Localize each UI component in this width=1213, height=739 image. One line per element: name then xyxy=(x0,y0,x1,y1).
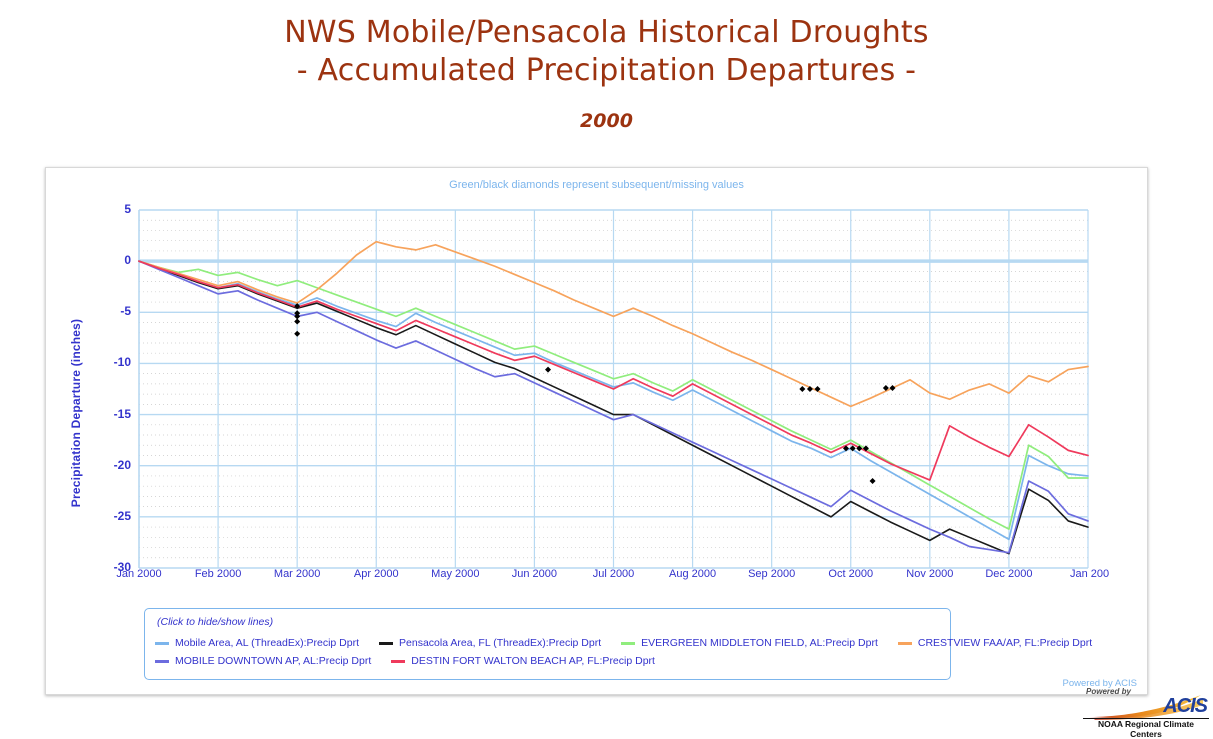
y-tick-label-1: 0 xyxy=(85,253,131,267)
missing-value-diamond-3 xyxy=(294,318,300,324)
y-tick-label-3: -10 xyxy=(85,355,131,369)
x-tick-label-3: Apr 2000 xyxy=(341,568,411,580)
legend-label-1: Pensacola Area, FL (ThreadEx):Precip Dpr… xyxy=(399,637,601,649)
legend-label-0: Mobile Area, AL (ThreadEx):Precip Dprt xyxy=(175,637,359,649)
legend-label-2: EVERGREEN MIDDLETON FIELD, AL:Precip Dpr… xyxy=(641,637,878,649)
x-tick-label-5: Jun 2000 xyxy=(499,568,569,580)
legend-label-4: MOBILE DOWNTOWN AP, AL:Precip Dprt xyxy=(175,655,371,667)
y-tick-label-6: -25 xyxy=(85,509,131,523)
legend-items[interactable]: Mobile Area, AL (ThreadEx):Precip DprtPe… xyxy=(155,637,940,667)
legend-swatch-icon-5 xyxy=(391,660,405,663)
title-line-2: - Accumulated Precipitation Departures - xyxy=(0,52,1213,90)
legend-hint-text: (Click to hide/show lines) xyxy=(157,616,940,628)
year-subtitle: 2000 xyxy=(0,90,1213,132)
legend-swatch-icon-2 xyxy=(621,642,635,645)
missing-value-diamond-9 xyxy=(890,385,896,391)
legend-swatch-icon-1 xyxy=(379,642,393,645)
x-tick-label-0: Jan 2000 xyxy=(104,568,174,580)
missing-value-diamond-2 xyxy=(294,313,300,319)
title-line-1: NWS Mobile/Pensacola Historical Droughts xyxy=(284,15,928,50)
x-tick-label-1: Feb 2000 xyxy=(183,568,253,580)
legend-swatch-icon-0 xyxy=(155,642,169,645)
legend-item-0[interactable]: Mobile Area, AL (ThreadEx):Precip Dprt xyxy=(155,637,359,649)
acis-wordmark: ACIS xyxy=(1163,695,1207,718)
x-tick-label-2: Mar 2000 xyxy=(262,568,332,580)
legend-item-4[interactable]: MOBILE DOWNTOWN AP, AL:Precip Dprt xyxy=(155,655,371,667)
line-chart-svg[interactable] xyxy=(46,168,1149,608)
x-tick-label-4: May 2000 xyxy=(420,568,490,580)
page-title: NWS Mobile/Pensacola Historical Droughts… xyxy=(0,14,1213,90)
legend-item-5[interactable]: DESTIN FORT WALTON BEACH AP, FL:Precip D… xyxy=(391,655,655,667)
missing-value-diamond-4 xyxy=(294,331,300,337)
legend-row-0: Mobile Area, AL (ThreadEx):Precip DprtPe… xyxy=(155,637,940,649)
legend-swatch-icon-4 xyxy=(155,660,169,663)
legend-swatch-icon-3 xyxy=(898,642,912,645)
x-tick-label-9: Oct 2000 xyxy=(816,568,886,580)
y-tick-label-0: 5 xyxy=(85,202,131,216)
acis-logo: Powered by ACIS NOAA Regional Climate Ce… xyxy=(1083,687,1209,731)
missing-value-diamond-15 xyxy=(545,367,551,373)
x-tick-label-8: Sep 2000 xyxy=(737,568,807,580)
y-axis-title: Precipitation Departure (inches) xyxy=(69,233,83,593)
y-tick-label-5: -20 xyxy=(85,458,131,472)
x-tick-label-11: Dec 2000 xyxy=(974,568,1044,580)
x-tick-label-7: Aug 2000 xyxy=(658,568,728,580)
x-tick-label-10: Nov 2000 xyxy=(895,568,965,580)
x-tick-label-12: Jan 200 xyxy=(1070,568,1134,580)
acis-subtitle: NOAA Regional Climate Centers xyxy=(1083,719,1209,739)
title-block: NWS Mobile/Pensacola Historical Droughts… xyxy=(0,0,1213,132)
y-tick-label-4: -15 xyxy=(85,407,131,421)
x-tick-label-6: Jul 2000 xyxy=(579,568,649,580)
legend-item-1[interactable]: Pensacola Area, FL (ThreadEx):Precip Dpr… xyxy=(379,637,601,649)
legend-label-5: DESTIN FORT WALTON BEACH AP, FL:Precip D… xyxy=(411,655,655,667)
chart-card: Green/black diamonds represent subsequen… xyxy=(45,167,1148,695)
missing-value-diamond-14 xyxy=(870,478,876,484)
legend-item-2[interactable]: EVERGREEN MIDDLETON FIELD, AL:Precip Dpr… xyxy=(621,637,878,649)
legend-item-3[interactable]: CRESTVIEW FAA/AP, FL:Precip Dprt xyxy=(898,637,1092,649)
legend-label-3: CRESTVIEW FAA/AP, FL:Precip Dprt xyxy=(918,637,1092,649)
missing-value-diamond-5 xyxy=(799,386,805,392)
legend-row-1: MOBILE DOWNTOWN AP, AL:Precip DprtDESTIN… xyxy=(155,655,940,667)
chart-legend[interactable]: (Click to hide/show lines) Mobile Area, … xyxy=(144,608,951,680)
acis-powered-by-label: Powered by xyxy=(1086,687,1131,696)
y-tick-label-2: -5 xyxy=(85,304,131,318)
